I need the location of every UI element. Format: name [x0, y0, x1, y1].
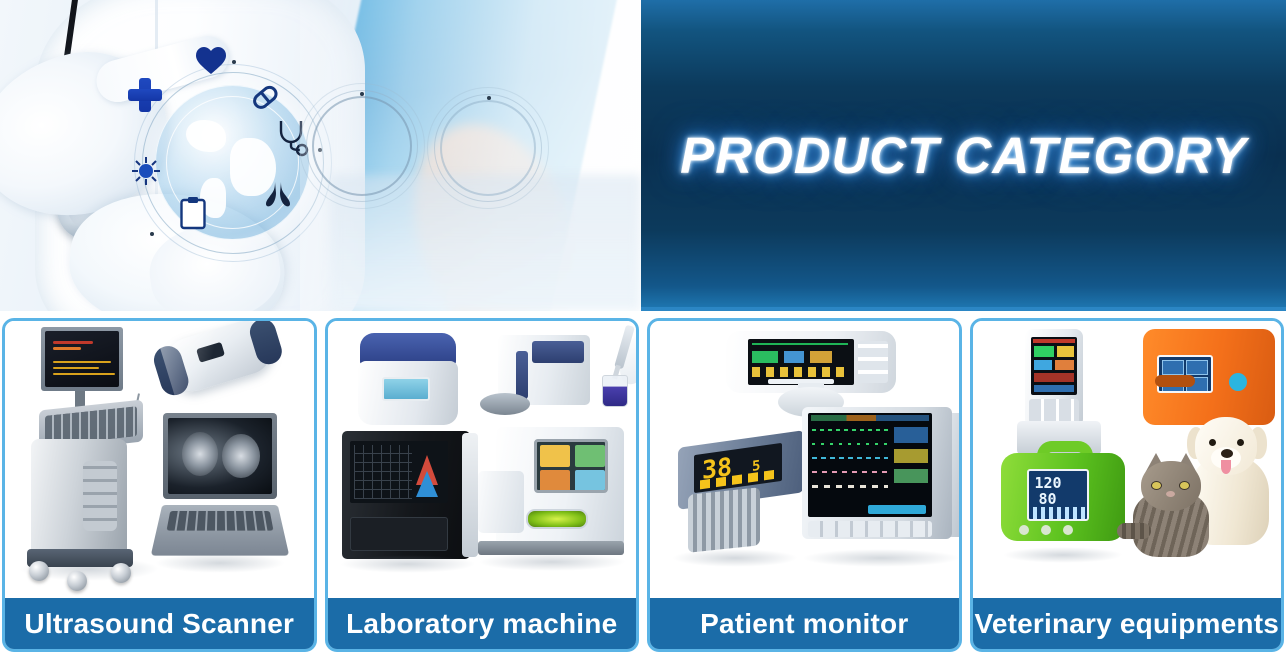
- card-media-veterinary: 120 80: [973, 321, 1282, 598]
- ultrasound-monitor-screen: [45, 331, 119, 387]
- pipette-and-vial: [600, 325, 640, 409]
- hud-circle-right: [440, 100, 536, 196]
- bp-diastolic: 80: [1039, 490, 1057, 508]
- handheld-vital-signs-monitor: [1017, 329, 1101, 457]
- sample-coil: [688, 487, 760, 553]
- monitor-button-row[interactable]: [808, 521, 932, 537]
- hud-marker-dot: [150, 232, 154, 236]
- sample-drawer: [350, 517, 448, 551]
- product-category-page: PRODUCT CATEGORY: [0, 0, 1286, 652]
- bp-button[interactable]: [1063, 525, 1073, 535]
- card-media-ultrasound: [5, 321, 314, 598]
- trolley-wheel: [67, 571, 87, 591]
- reagent-vial: [602, 375, 628, 407]
- patient-monitor-screen: [808, 413, 932, 517]
- category-card-laboratory-machine[interactable]: Laboratory machine: [325, 318, 640, 652]
- orange-veterinary-analyzer: [1143, 329, 1275, 425]
- virus-icon: [130, 155, 162, 187]
- category-cards-row: Ultrasound Scanner: [0, 318, 1286, 652]
- hero-photo: [0, 0, 641, 311]
- pill-icon: [250, 82, 280, 112]
- card-label-patient-monitor[interactable]: Patient monitor: [649, 598, 960, 650]
- product-shadow: [478, 553, 626, 571]
- category-card-ultrasound-scanner[interactable]: Ultrasound Scanner: [2, 318, 317, 652]
- category-card-patient-monitor[interactable]: 38 5: [647, 318, 962, 652]
- hud-marker-dot: [232, 60, 236, 64]
- hematology-analyzer: [342, 431, 470, 559]
- product-shadow: [340, 555, 476, 573]
- hud-marker-dot: [487, 96, 491, 100]
- electrolyte-touchscreen: [534, 439, 608, 493]
- dog-and-cat-photo: [1123, 417, 1285, 557]
- medical-cross-icon: [128, 78, 162, 112]
- monitor-keypad: [858, 341, 888, 383]
- laptop-ultrasound-screen: [168, 418, 272, 494]
- analyzer-screen: [1157, 355, 1213, 393]
- product-shadow: [1003, 547, 1123, 563]
- bp-button[interactable]: [1041, 525, 1051, 535]
- product-category-banner: PRODUCT CATEGORY: [641, 0, 1286, 311]
- card-media-laboratory: [328, 321, 637, 598]
- biochemistry-analyzer: [480, 335, 590, 417]
- multi-parameter-patient-monitor: [802, 407, 962, 559]
- sample-tray: [480, 393, 530, 415]
- monitor-neck: [75, 391, 85, 407]
- product-shadow: [802, 549, 960, 567]
- green-blood-pressure-monitor: 120 80: [1001, 441, 1125, 551]
- product-shadow: [672, 549, 798, 567]
- status-indicator: [526, 509, 588, 529]
- category-card-veterinary-equipments[interactable]: 120 80: [970, 318, 1285, 652]
- handheld-screen: [1031, 337, 1077, 395]
- clipboard-icon: [180, 196, 206, 230]
- hud-marker-dot: [360, 92, 364, 96]
- laptop-keyboard: [151, 505, 290, 556]
- analyzer-slot: [1155, 375, 1195, 387]
- hero-row: PRODUCT CATEGORY: [0, 0, 1286, 311]
- bp-button[interactable]: [1019, 525, 1029, 535]
- centrifuge-display: [382, 377, 430, 401]
- ultrasound-trolley-body: [31, 439, 127, 557]
- trolley-wheel: [29, 561, 49, 581]
- heart-icon: [195, 45, 227, 75]
- hematology-screen: [350, 441, 448, 503]
- card-media-patient-monitor: 38 5: [650, 321, 959, 598]
- lungs-icon: [262, 180, 294, 208]
- power-button[interactable]: [1229, 373, 1247, 391]
- card-label-laboratory-machine[interactable]: Laboratory machine: [327, 598, 638, 650]
- trolley-wheel: [111, 563, 131, 583]
- banner-title: PRODUCT CATEGORY: [680, 126, 1247, 185]
- laptop-ultrasound-scanner: [157, 413, 283, 561]
- card-label-ultrasound-scanner[interactable]: Ultrasound Scanner: [4, 598, 315, 650]
- card-label-veterinary-equipments[interactable]: Veterinary equipments: [972, 598, 1283, 650]
- laptop-lid: [163, 413, 277, 499]
- ultrasound-monitor: [41, 327, 123, 391]
- wireless-ultrasound-probe: [159, 318, 278, 398]
- product-shadow: [155, 553, 285, 573]
- bp-screen: 120 80: [1027, 469, 1089, 521]
- electrolyte-analyzer: [478, 423, 624, 559]
- centrifuge: [358, 333, 458, 425]
- hud-circle-left: [312, 96, 412, 196]
- vital-signs-screen: [748, 339, 854, 385]
- cat: [1123, 461, 1219, 557]
- capnograph-module: 38 5: [668, 439, 808, 555]
- handheld-keypad[interactable]: [1029, 399, 1079, 423]
